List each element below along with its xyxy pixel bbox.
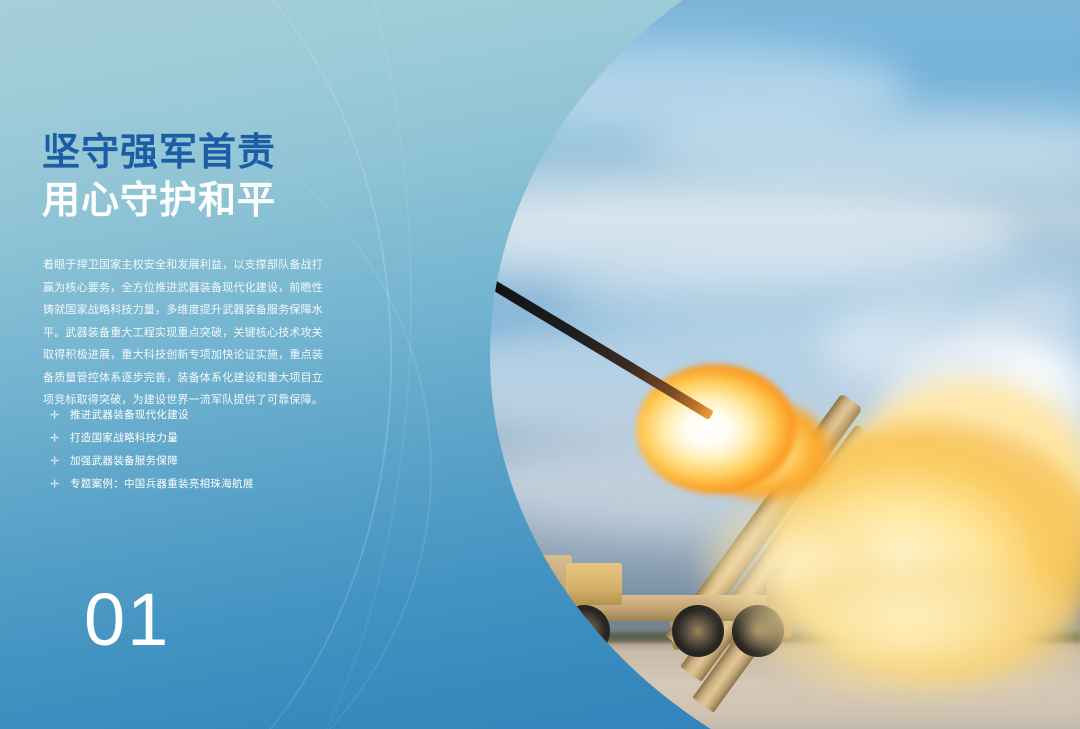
list-item-label: 加强武器装备服务保障 xyxy=(70,455,178,467)
page-number: 01 xyxy=(84,583,170,657)
list-item[interactable]: ✛ 打造国家战略科技力量 xyxy=(44,427,344,450)
title-line-1: 坚守强军首责 xyxy=(42,131,342,175)
text-content: 坚守强军首责 用心守护和平 着眼于捍卫国家主权安全和发展利益，以支撑部队备战打赢… xyxy=(40,0,350,729)
page-title: 坚守强军首责 用心守护和平 xyxy=(42,131,342,223)
plus-icon: ✛ xyxy=(50,480,59,489)
truck-hood xyxy=(566,563,622,605)
list-item-label: 专题案例：中国兵器重装亮相珠海航展 xyxy=(70,478,254,490)
body-paragraph: 着眼于捍卫国家主权安全和发展利益，以支撑部队备战打赢为核心要务，全方位推进武器装… xyxy=(43,254,323,412)
list-item[interactable]: ✛ 专题案例：中国兵器重装亮相珠海航展 xyxy=(44,473,344,496)
poster-page: 坚守强军首责 用心守护和平 着眼于捍卫国家主权安全和发展利益，以支撑部队备战打赢… xyxy=(0,0,1080,729)
truck-wheel xyxy=(672,605,724,657)
plus-icon: ✛ xyxy=(50,434,59,443)
title-line-2: 用心守护和平 xyxy=(42,179,342,223)
plus-icon: ✛ xyxy=(50,457,59,466)
list-item-label: 推进武器装备现代化建设 xyxy=(70,409,189,421)
list-item-label: 打造国家战略科技力量 xyxy=(70,432,178,444)
plus-icon: ✛ xyxy=(50,411,59,420)
truck-wheel xyxy=(732,605,784,657)
list-item[interactable]: ✛ 推进武器装备现代化建设 xyxy=(44,404,344,427)
bullet-list: ✛ 推进武器装备现代化建设 ✛ 打造国家战略科技力量 ✛ 加强武器装备服务保障 … xyxy=(44,404,344,496)
list-item[interactable]: ✛ 加强武器装备服务保障 xyxy=(44,450,344,473)
